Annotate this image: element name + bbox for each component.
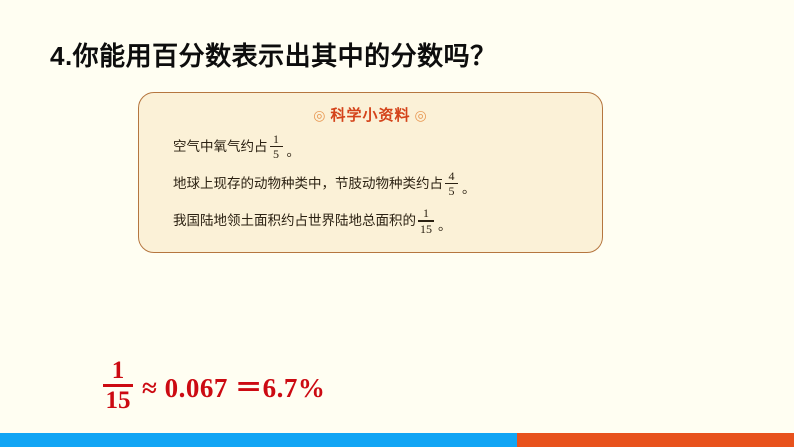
fraction-denominator: 15 — [418, 222, 434, 235]
fraction: 4 5 — [445, 170, 458, 197]
footer-bar — [0, 433, 794, 447]
fraction-denominator: 5 — [271, 147, 281, 160]
fraction-numerator: 1 — [421, 207, 431, 220]
footer-segment-orange — [517, 433, 794, 447]
fraction-numerator: 4 — [447, 170, 457, 183]
equation-result: ≈ 0.067 ＝6.7% — [142, 366, 325, 405]
fact-period: 。 — [287, 145, 301, 161]
fraction-denominator: 5 — [447, 184, 457, 197]
fact-text: 我国陆地领土面积约占世界陆地总面积的 — [173, 214, 416, 228]
info-card-body: 空气中氧气约占 1 5 。 地球上现存的动物种类中，节肢动物种类约占 4 5 。… — [139, 133, 602, 235]
science-info-card: ◎科学小资料◎ 空气中氧气约占 1 5 。 地球上现存的动物种类中，节肢动物种类… — [138, 92, 603, 253]
fraction: 1 5 — [270, 133, 283, 160]
equation-fraction-denominator: 15 — [106, 387, 131, 413]
info-card-header: ◎科学小资料◎ — [139, 104, 602, 125]
equation-fraction: 1 15 — [103, 358, 133, 413]
answer-equation: 1 15 ≈ 0.067 ＝6.7% — [103, 358, 325, 413]
fact-text: 空气中氧气约占 — [173, 140, 268, 154]
equation-fraction-numerator: 1 — [112, 358, 125, 384]
page-title: 4.你能用百分数表示出其中的分数吗？ — [50, 36, 497, 73]
fraction-numerator: 1 — [271, 133, 281, 146]
fact-item: 我国陆地领土面积约占世界陆地总面积的 1 15 。 — [173, 207, 602, 234]
decoration-circle-right-icon: ◎ — [411, 107, 432, 123]
fact-text: 地球上现存的动物种类中，节肢动物种类约占 — [173, 177, 443, 191]
fact-item: 空气中氧气约占 1 5 。 — [173, 133, 602, 160]
fraction: 1 15 — [418, 207, 434, 234]
fact-period: 。 — [462, 182, 476, 198]
decoration-circle-left-icon: ◎ — [309, 107, 330, 123]
footer-segment-blue — [0, 433, 517, 447]
fact-item: 地球上现存的动物种类中，节肢动物种类约占 4 5 。 — [173, 170, 602, 197]
fact-period: 。 — [438, 219, 452, 235]
info-card-header-label: 科学小资料 — [330, 107, 410, 124]
